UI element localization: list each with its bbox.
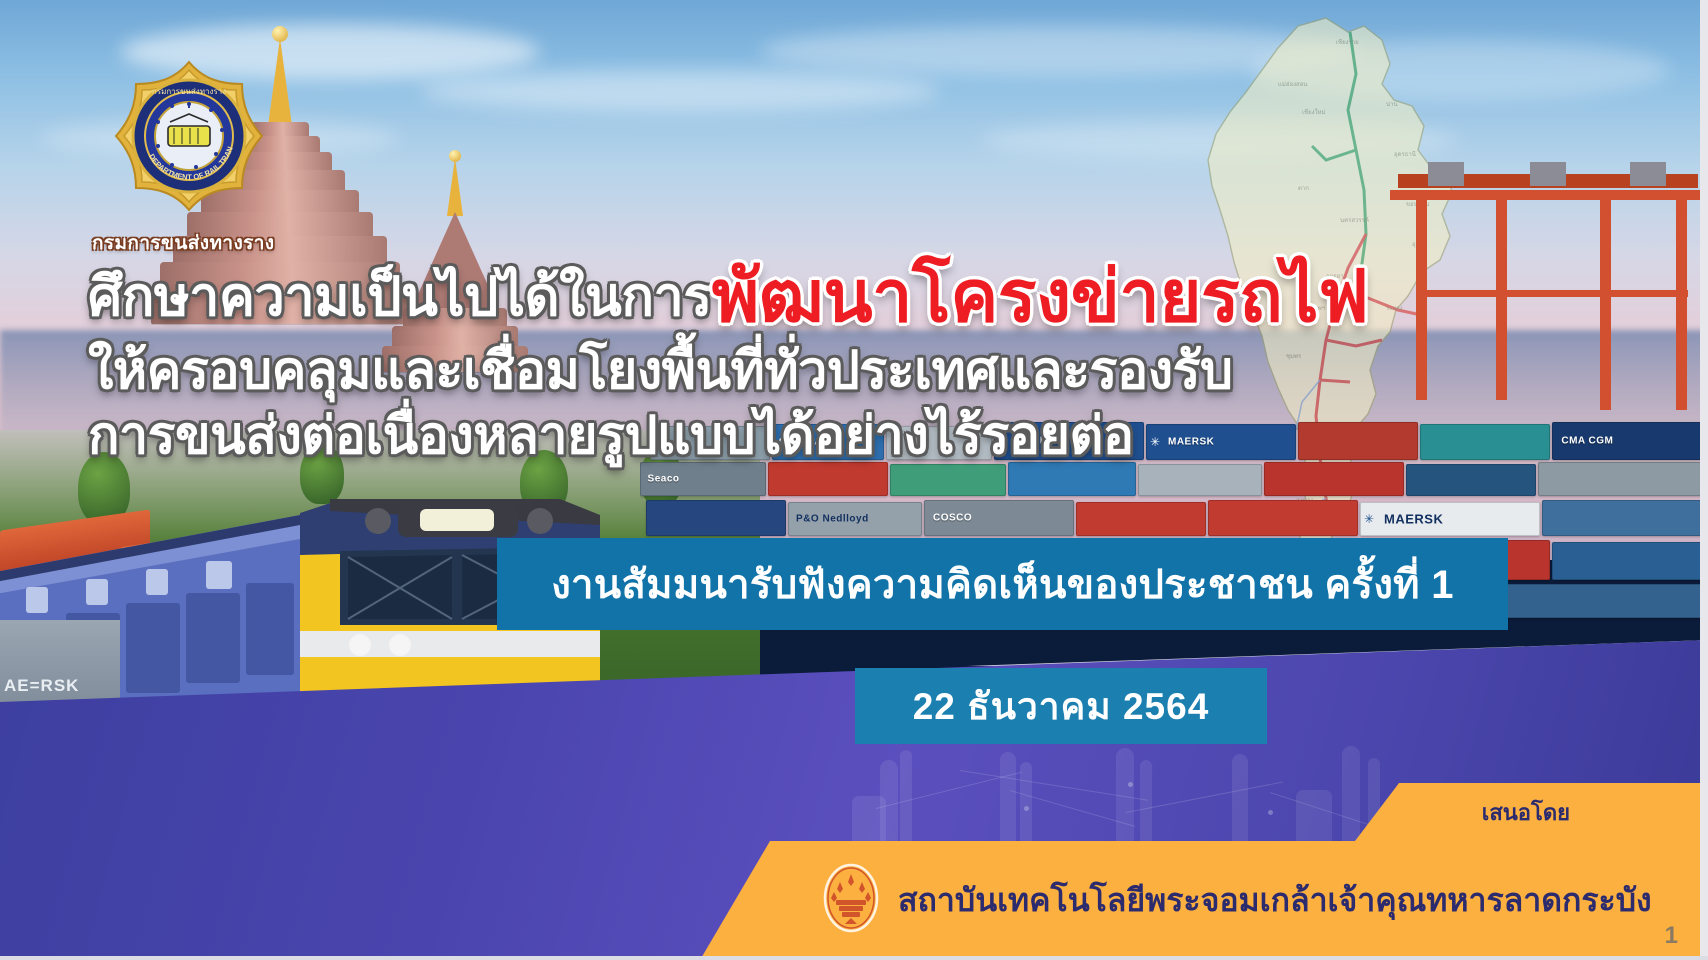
event-date-text: 22 ธันวาคม 2564 [913,677,1210,736]
presentation-slide: เชียงราย แม่ฮ่องสอน เชียงใหม่ น่าน อุดรธ… [0,0,1708,960]
headline-line-2: ให้ครอบคลุมและเชื่อมโยงพื้นที่ทั่วประเทศ… [88,346,1208,397]
shipping-container [890,464,1006,496]
shipping-container [1008,462,1136,496]
headline-line-3: การขนส่งต่อเนื่องหลายรูปแบบได้อย่างไร้รอ… [88,411,1208,462]
shipping-container [1138,464,1262,496]
svg-text:อุดรธานี: อุดรธานี [1394,150,1416,158]
svg-text:แม่ฮ่องสอน: แม่ฮ่องสอน [1278,81,1307,88]
shipping-container [1406,464,1536,496]
shipping-container [1476,584,1708,618]
cloud [420,70,940,112]
svg-text:น่าน: น่าน [1386,101,1398,108]
shipping-container: P&O Nedlloyd [788,502,922,536]
bottom-edge [0,956,1708,960]
event-date-banner: 22 ธันวาคม 2564 [855,668,1267,744]
shipping-container [1264,462,1404,496]
shipping-container [1208,500,1358,536]
seminar-title-banner: งานสัมมนารับฟังความคิดเห็นของประชาชน ครั… [497,538,1508,630]
shipping-container: COSCO [924,500,1074,536]
shipping-container [1552,542,1708,580]
department-label: กรมการขนส่งทางราง [92,228,274,258]
organization-name: สถาบันเทคโนโลยีพระจอมเกล้าเจ้าคุณทหารลาด… [898,875,1652,926]
shipping-container [1298,422,1418,460]
svg-text:เชียงใหม่: เชียงใหม่ [1302,108,1325,116]
headline-block: ศึกษาความเป็นไปได้ในการพัฒนาโครงข่ายรถไฟ… [88,262,1208,461]
kmitl-emblem-icon [822,862,880,939]
svg-text:กรมการขนส่งทางราง: กรมการขนส่งทางราง [152,87,226,96]
shipping-container [1076,502,1206,536]
right-edge [1700,0,1708,960]
headline-line-1: ศึกษาความเป็นไปได้ในการพัฒนาโครงข่ายรถไฟ [88,262,1208,333]
shipping-container [768,462,888,496]
presented-by-label: เสนอโดย [1482,795,1570,830]
shipping-container: ✳MAERSK [1360,502,1540,536]
presented-by-tab: เสนอโดย [1355,783,1708,841]
shipping-container: CMA CGM [1552,422,1708,460]
shipping-container [1538,462,1708,496]
department-of-rail-transport-logo: กรมการขนส่งทางราง DEPARTMENT OF RAIL TRA… [112,58,267,218]
page-number: 1 [1665,922,1678,950]
headline-prefix: ศึกษาความเป็นไปได้ในการ [88,267,712,327]
shipping-container [1420,424,1550,460]
shipping-container [1542,500,1708,536]
seminar-title-text: งานสัมมนารับฟังความคิดเห็นของประชาชน ครั… [551,552,1454,616]
footer-content: สถาบันเทคโนโลยีพระจอมเกล้าเจ้าคุณทหารลาด… [780,841,1708,960]
headline-highlight: พัฒนาโครงข่ายรถไฟ [712,257,1369,337]
svg-text:เชียงราย: เชียงราย [1336,38,1359,46]
